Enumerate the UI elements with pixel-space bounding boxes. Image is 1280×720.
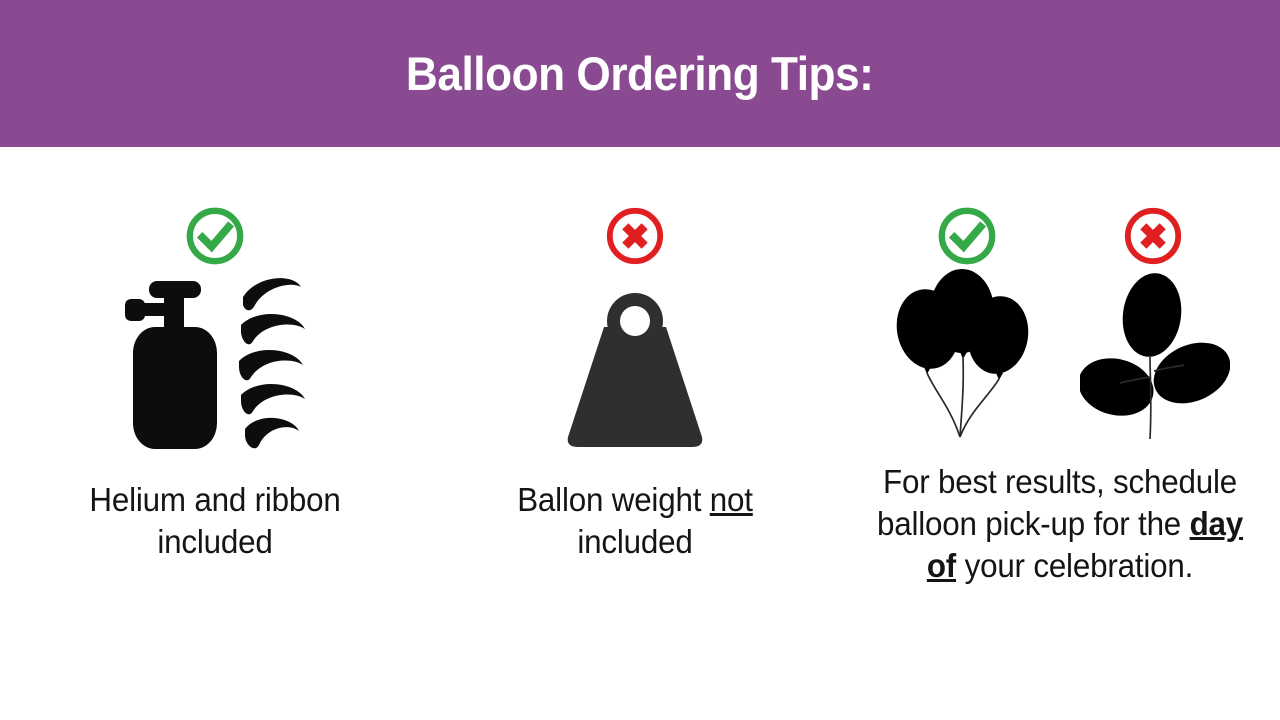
pictogram-row xyxy=(890,255,1230,455)
status-mark-row xyxy=(184,147,246,255)
tip-column-helium-ribbon: Helium and ribbon included xyxy=(0,147,430,563)
tip-caption-segment-1: For best results, schedule balloon pick-… xyxy=(877,463,1237,542)
curly-ribbon-icon xyxy=(231,269,311,455)
header-band: Balloon Ordering Tips: xyxy=(0,0,1280,147)
pictogram-row xyxy=(119,255,311,455)
tip-caption: For best results, schedule balloon pick-… xyxy=(875,461,1246,588)
tip-caption: Ballon weight not included xyxy=(464,479,806,563)
tip-caption-emphasis-not: not xyxy=(710,481,753,518)
tip-caption-text: Helium and ribbon included xyxy=(89,481,340,560)
status-mark-row xyxy=(604,147,666,255)
deflated-balloons-icon xyxy=(1080,267,1230,443)
page-title: Balloon Ordering Tips: xyxy=(406,50,873,97)
inflated-balloons-icon xyxy=(890,267,1030,443)
tip-caption: Helium and ribbon included xyxy=(44,479,386,563)
tip-caption-segment-3: your celebration. xyxy=(956,547,1193,584)
status-mark-row xyxy=(936,147,1184,255)
weight-icon xyxy=(548,285,722,455)
helium-tank-icon xyxy=(119,275,231,455)
tip-caption-segment-3: included xyxy=(577,523,692,560)
tip-caption-segment-1: Ballon weight xyxy=(517,481,710,518)
tip-column-balloon-weight: Ballon weight not included xyxy=(430,147,840,563)
tip-column-pickup-timing: For best results, schedule balloon pick-… xyxy=(840,147,1280,588)
pictogram-row xyxy=(548,255,722,455)
tips-content: Helium and ribbon included Ballon weight… xyxy=(0,147,1280,720)
